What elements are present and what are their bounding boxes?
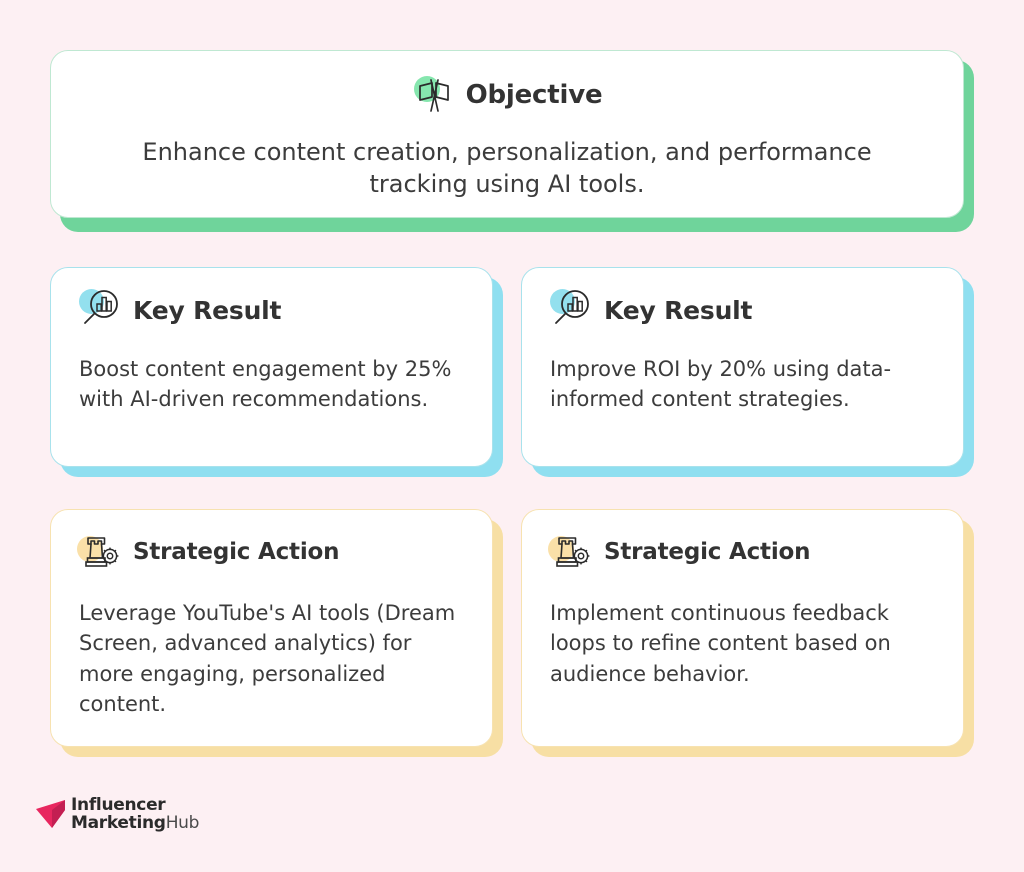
magnifier-bar-chart-icon [79,288,123,332]
logo-line-marketinghub: MarketingHub [71,814,199,832]
strategic-action-2-card: Strategic Action Implement continuous fe… [521,509,964,747]
key-result-1-header: Key Result [79,288,464,332]
logo-arrow-icon [35,794,69,834]
objective-header: Objective [111,73,903,117]
chess-rook-gear-icon [79,530,123,574]
objective-body: Enhance content creation, personalizatio… [111,137,903,200]
key-result-2-card: Key Result Improve ROI by 20% using data… [521,267,964,467]
key-result-2-header: Key Result [550,288,935,332]
logo-line-influencer: Influencer [71,796,199,814]
objective-card: Objective Enhance content creation, pers… [50,50,964,218]
key-result-2-title: Key Result [604,296,752,325]
crossed-flags-icon [412,73,456,117]
strategic-action-2-body: Implement continuous feedback loops to r… [550,598,935,689]
key-result-1-title: Key Result [133,296,281,325]
strategic-action-1-title: Strategic Action [133,539,339,565]
logo-hub: Hub [166,813,199,833]
key-result-2-body: Improve ROI by 20% using data-informed c… [550,354,935,415]
key-result-1-card: Key Result Boost content engagement by 2… [50,267,493,467]
strategic-action-2-header: Strategic Action [550,530,935,574]
key-result-1-body: Boost content engagement by 25% with AI-… [79,354,464,415]
strategic-action-2-title: Strategic Action [604,539,810,565]
logo-marketing: Marketing [71,813,166,833]
okr-infographic: Objective Enhance content creation, pers… [0,0,1024,872]
objective-title: Objective [466,80,603,110]
strategic-action-1-card: Strategic Action Leverage YouTube's AI t… [50,509,493,747]
influencer-marketing-hub-logo[interactable]: Influencer MarketingHub [35,794,199,834]
logo-wordmark: Influencer MarketingHub [71,796,199,833]
strategic-action-1-body: Leverage YouTube's AI tools (Dream Scree… [79,598,464,720]
chess-rook-gear-icon [550,530,594,574]
strategic-action-1-header: Strategic Action [79,530,464,574]
magnifier-bar-chart-icon [550,288,594,332]
